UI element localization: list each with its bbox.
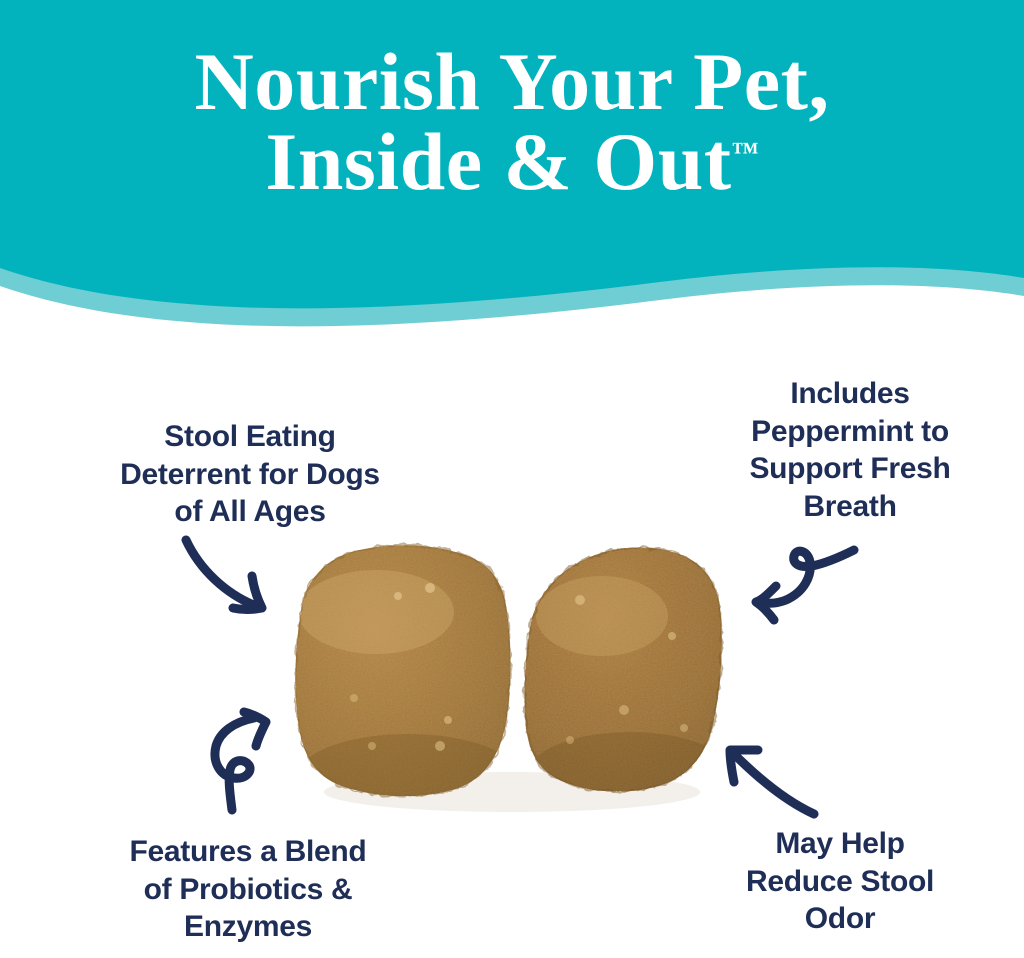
callout-line: Stool Eating xyxy=(55,418,445,456)
callout-line: Breath xyxy=(690,488,1010,526)
callout-line: Reduce Stool xyxy=(675,863,1005,901)
header-banner: Nourish Your Pet, Inside & Out™ xyxy=(0,0,1024,340)
callout-reduce-stool-odor: May Help Reduce Stool Odor xyxy=(675,825,1005,938)
trademark-symbol: ™ xyxy=(732,136,759,166)
callout-line: Odor xyxy=(675,900,1005,938)
callout-line: Support Fresh xyxy=(690,450,1010,488)
callout-line: May Help xyxy=(675,825,1005,863)
callout-line: Includes xyxy=(690,375,1010,413)
looped-arrow-down-left-icon xyxy=(742,540,864,632)
callout-includes-peppermint: Includes Peppermint to Support Fresh Bre… xyxy=(690,375,1010,525)
page-title-line-2: Inside & Out™ xyxy=(0,122,1024,202)
callout-stool-eating-deterrent: Stool Eating Deterrent for Dogs of All A… xyxy=(55,418,445,531)
callout-line: Enzymes xyxy=(58,908,438,946)
callout-line: of Probiotics & xyxy=(58,871,438,909)
treats-illustration xyxy=(280,540,740,830)
infographic-canvas: Nourish Your Pet, Inside & Out™ Stool Ea… xyxy=(0,0,1024,958)
page-title-line-2-text: Inside & Out xyxy=(265,116,731,207)
callout-line: Deterrent for Dogs xyxy=(55,456,445,494)
callout-line: Features a Blend xyxy=(58,833,438,871)
page-title: Nourish Your Pet, Inside & Out™ xyxy=(0,42,1024,201)
product-treats-image xyxy=(280,540,740,830)
page-title-line-1: Nourish Your Pet, xyxy=(0,42,1024,122)
callout-line: Peppermint to xyxy=(690,413,1010,451)
callout-line: of All Ages xyxy=(55,493,445,531)
callout-probiotics-enzymes: Features a Blend of Probiotics & Enzymes xyxy=(58,833,438,946)
